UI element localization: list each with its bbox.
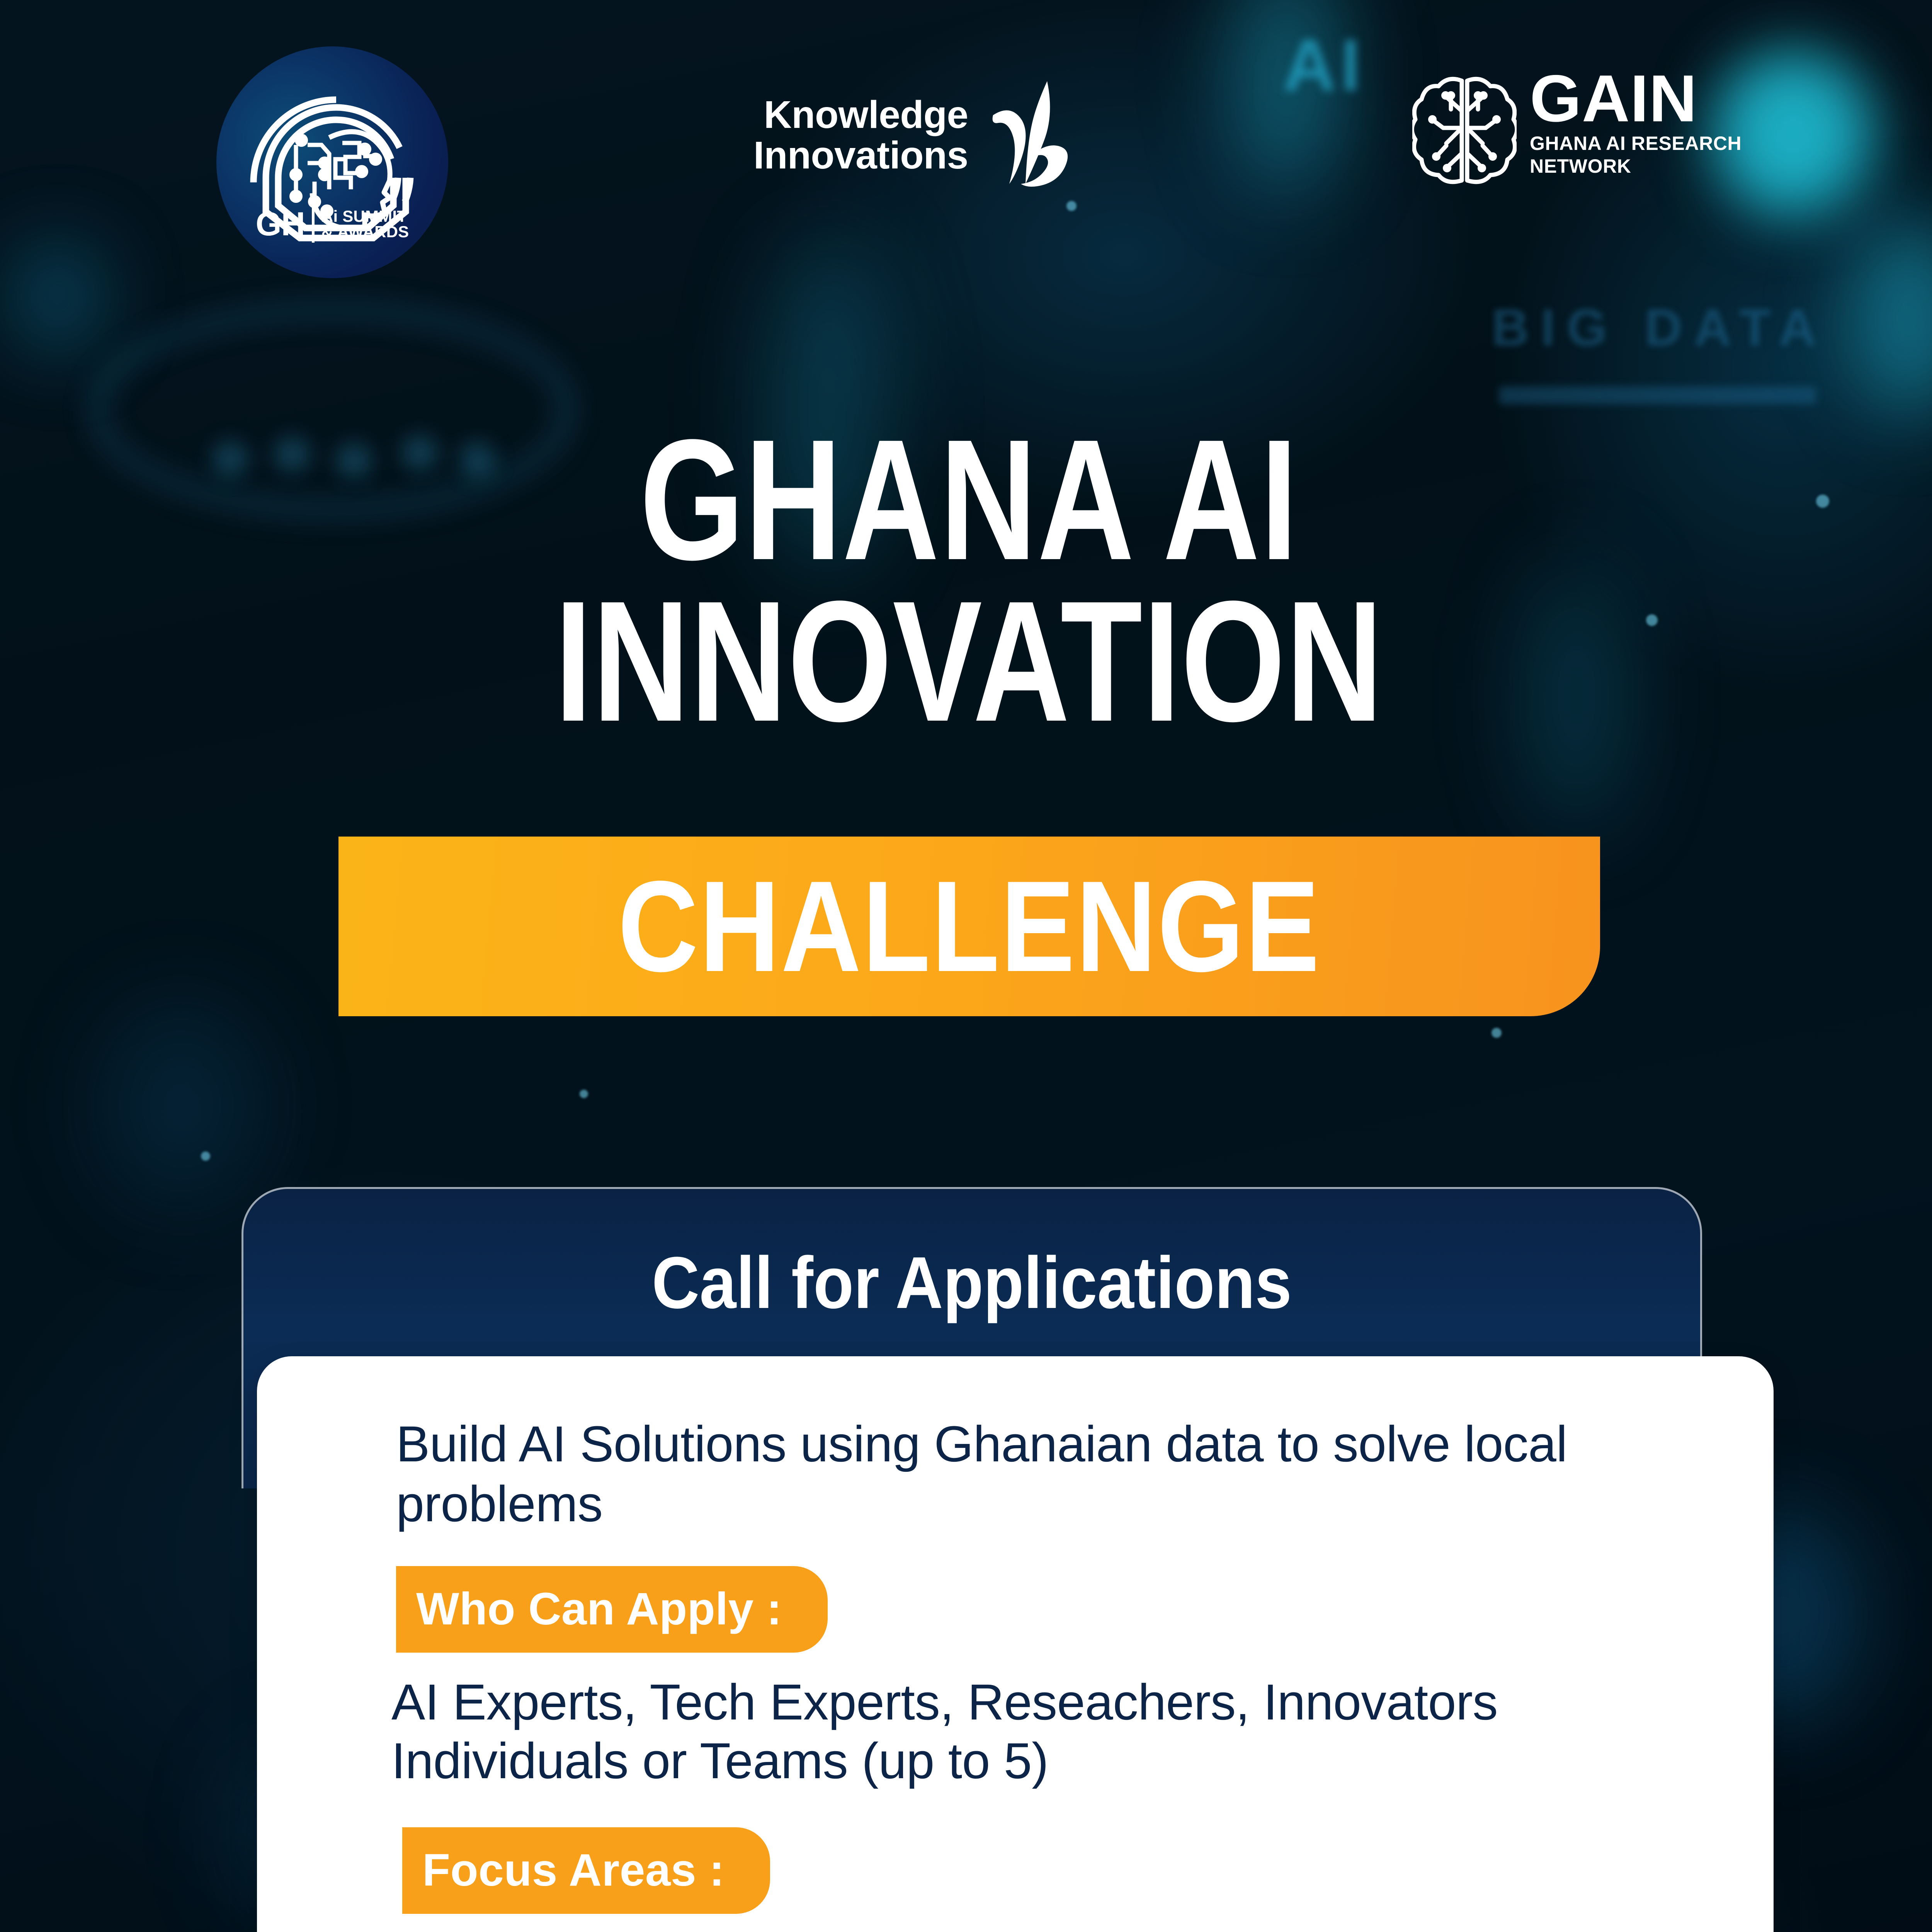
logo-row: GH Ai SUMMIT & AWARDS Knowledge Innovati… bbox=[0, 0, 1932, 294]
title-line-1: GHANA AI bbox=[213, 419, 1725, 581]
challenge-band-label: CHALLENGE bbox=[618, 862, 1321, 991]
gain-acronym: GAIN bbox=[1530, 71, 1742, 126]
who-can-apply-line-1: AI Experts, Tech Experts, Reseachers, In… bbox=[391, 1673, 1774, 1731]
background-word-big-data: BIG DATA bbox=[1492, 298, 1828, 357]
badge-focus-areas: Focus Areas : bbox=[402, 1827, 770, 1914]
summit-logo-gh: GH bbox=[256, 208, 305, 240]
summit-logo-line1: Ai SUMMIT bbox=[321, 209, 409, 224]
gain-line2: NETWORK bbox=[1530, 155, 1742, 178]
sparkle-dot bbox=[580, 1090, 588, 1098]
summit-logo-wordmark: GH Ai SUMMIT & AWARDS bbox=[216, 206, 448, 243]
challenge-band: CHALLENGE bbox=[338, 837, 1600, 1016]
summit-logo-line2: & AWARDS bbox=[321, 224, 409, 240]
sparkle-dot bbox=[201, 1151, 210, 1161]
brain-icon bbox=[1412, 74, 1517, 190]
challenge-band-wrap: CHALLENGE bbox=[0, 837, 1932, 1016]
glow-blob bbox=[100, 1005, 263, 1206]
decorative-bar bbox=[1499, 386, 1816, 404]
summit-logo: GH Ai SUMMIT & AWARDS bbox=[216, 46, 448, 278]
sparkle-dot bbox=[1492, 1028, 1502, 1038]
title-line-2: INNOVATION bbox=[213, 581, 1725, 742]
leaf-butterfly-icon bbox=[979, 77, 1068, 193]
gain-line1: GHANA AI RESEARCH bbox=[1530, 132, 1742, 155]
badge-who-can-apply: Who Can Apply : bbox=[396, 1566, 828, 1653]
ki-line1: Knowledge bbox=[753, 95, 968, 135]
intro-text: Build AI Solutions using Ghanaian data t… bbox=[396, 1414, 1605, 1534]
section-who-can-apply: Who Can Apply : AI Experts, Tech Experts… bbox=[396, 1566, 1774, 1790]
call-for-applications-title: Call for Applications bbox=[316, 1246, 1628, 1320]
knowledge-innovations-logo: Knowledge Innovations bbox=[753, 77, 1068, 193]
section-focus-areas: Focus Areas : Agric, Health, Finance, Pu… bbox=[396, 1827, 1774, 1932]
details-card: Build AI Solutions using Ghanaian data t… bbox=[257, 1356, 1774, 1932]
who-can-apply-line-2: Individuals or Teams (up to 5) bbox=[391, 1731, 1774, 1790]
poster-root: AI BIG DATA bbox=[0, 0, 1932, 1932]
gain-logo: GAIN GHANA AI RESEARCH NETWORK bbox=[1412, 71, 1742, 190]
ki-line2: Innovations bbox=[753, 135, 968, 176]
poster-title: GHANA AI INNOVATION bbox=[0, 419, 1932, 743]
